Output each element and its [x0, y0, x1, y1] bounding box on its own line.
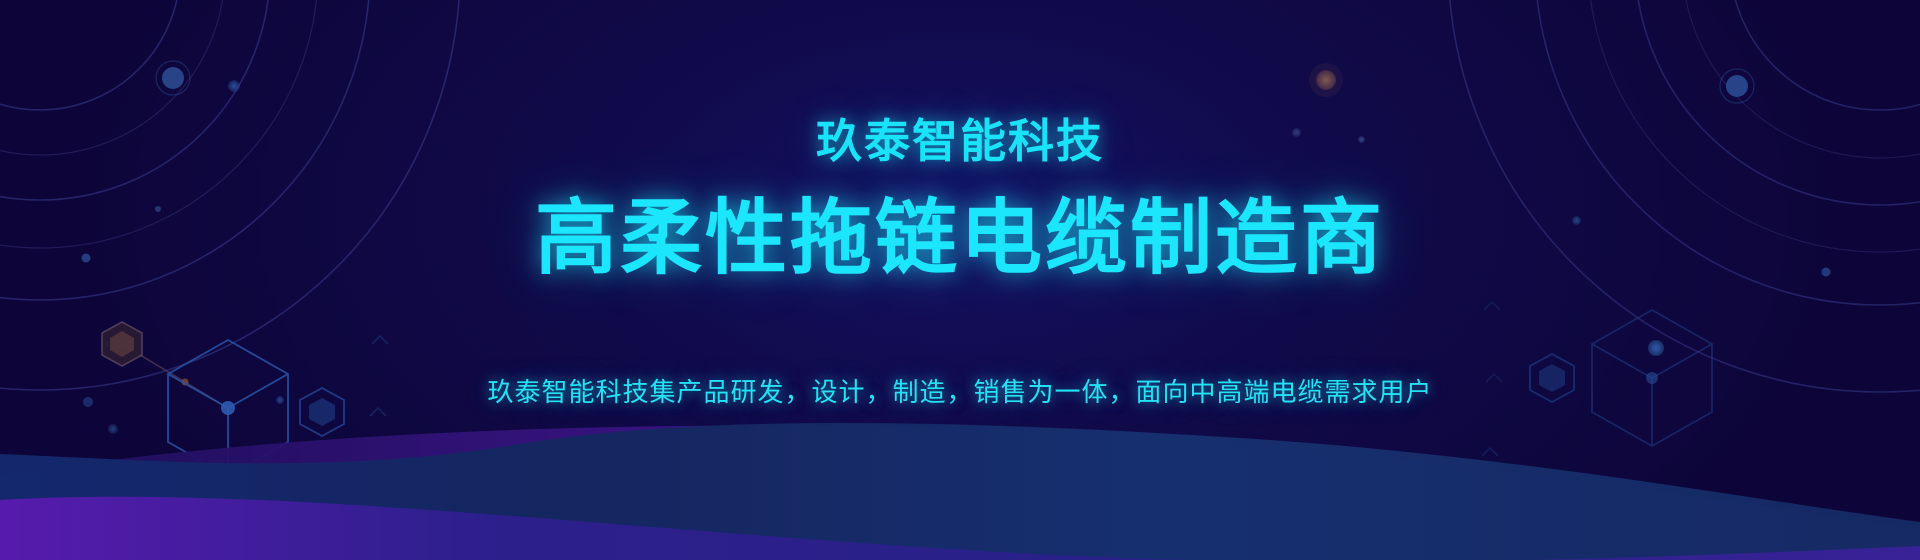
banner-subtitle: 玖泰智能科技集产品研发，设计，制造，销售为一体，面向中高端电缆需求用户 — [487, 379, 1432, 405]
hero-banner: 玖泰智能科技 高柔性拖链电缆制造商 玖泰智能科技集产品研发，设计，制造，销售为一… — [0, 0, 1920, 560]
banner-eyebrow: 玖泰智能科技 — [816, 118, 1104, 164]
banner-headline: 高柔性拖链电缆制造商 — [535, 198, 1385, 280]
banner-content: 玖泰智能科技 高柔性拖链电缆制造商 玖泰智能科技集产品研发，设计，制造，销售为一… — [0, 0, 1920, 560]
